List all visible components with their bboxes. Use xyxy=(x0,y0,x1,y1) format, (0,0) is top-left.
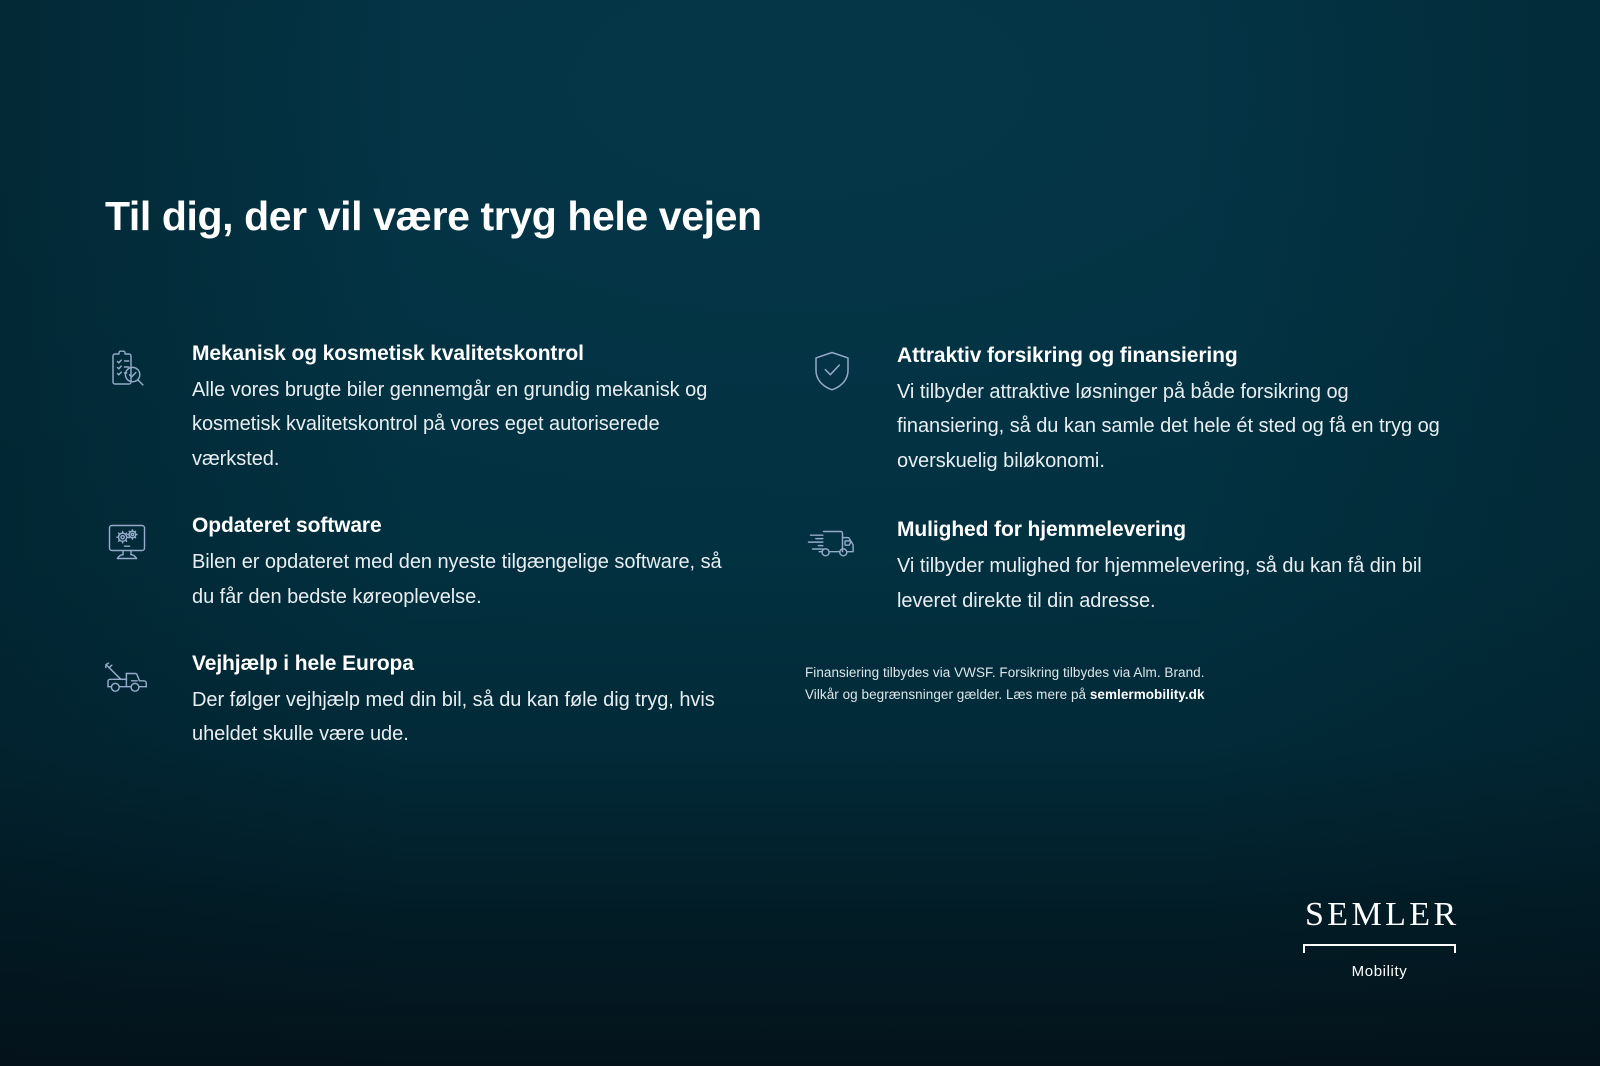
feature-title: Mulighed for hjemmelevering xyxy=(897,518,1455,542)
disclaimer: Finansiering tilbydes via VWSF. Forsikri… xyxy=(805,662,1275,707)
shield-check-icon xyxy=(805,348,859,398)
feature-title: Mekanisk og kosmetisk kvalitetskontrol xyxy=(192,342,740,366)
promo-page: Til dig, der vil være tryg hele vejen Me… xyxy=(0,0,1600,1066)
feature-body: Bilen er opdateret med den nyeste tilgæn… xyxy=(192,545,740,614)
clipboard-check-magnifier-icon xyxy=(100,346,154,396)
disclaimer-line-2-prefix: Vilkår og begrænsninger gælder. Læs mere… xyxy=(805,687,1090,702)
logo-divider xyxy=(1303,944,1456,953)
feature-body: Vi tilbyder mulighed for hjemmelevering,… xyxy=(897,549,1455,618)
delivery-truck-icon xyxy=(805,522,859,572)
feature-quality-control: Mekanisk og kosmetisk kvalitetskontrol A… xyxy=(100,342,740,476)
disclaimer-website-link[interactable]: semlermobility.dk xyxy=(1090,687,1205,702)
feature-updated-software: Opdateret software Bilen er opdateret me… xyxy=(100,514,740,614)
disclaimer-line-1: Finansiering tilbydes via VWSF. Forsikri… xyxy=(805,665,1205,680)
semler-mobility-logo: SEMLER Mobility xyxy=(1302,898,1457,980)
feature-title: Attraktiv forsikring og finansiering xyxy=(897,344,1455,368)
feature-title: Opdateret software xyxy=(192,514,740,538)
feature-body: Vi tilbyder attraktive løsninger på både… xyxy=(897,375,1455,478)
logo-wordmark: SEMLER xyxy=(1302,898,1457,932)
tow-truck-icon xyxy=(100,656,154,706)
feature-body: Alle vores brugte biler gennemgår en gru… xyxy=(192,373,740,476)
logo-subtitle: Mobility xyxy=(1302,963,1457,980)
feature-roadside-assistance: Vejhjælp i hele Europa Der følger vejhjæ… xyxy=(100,652,740,752)
page-title: Til dig, der vil være tryg hele vejen xyxy=(105,193,762,240)
feature-title: Vejhjælp i hele Europa xyxy=(192,652,740,676)
features-column-right: Attraktiv forsikring og finansiering Vi … xyxy=(805,344,1455,707)
features-column-left: Mekanisk og kosmetisk kvalitetskontrol A… xyxy=(100,342,740,752)
monitor-gears-icon xyxy=(100,518,154,568)
feature-insurance-financing: Attraktiv forsikring og finansiering Vi … xyxy=(805,344,1455,478)
feature-body: Der følger vejhjælp med din bil, så du k… xyxy=(192,683,740,752)
feature-home-delivery: Mulighed for hjemmelevering Vi tilbyder … xyxy=(805,518,1455,618)
